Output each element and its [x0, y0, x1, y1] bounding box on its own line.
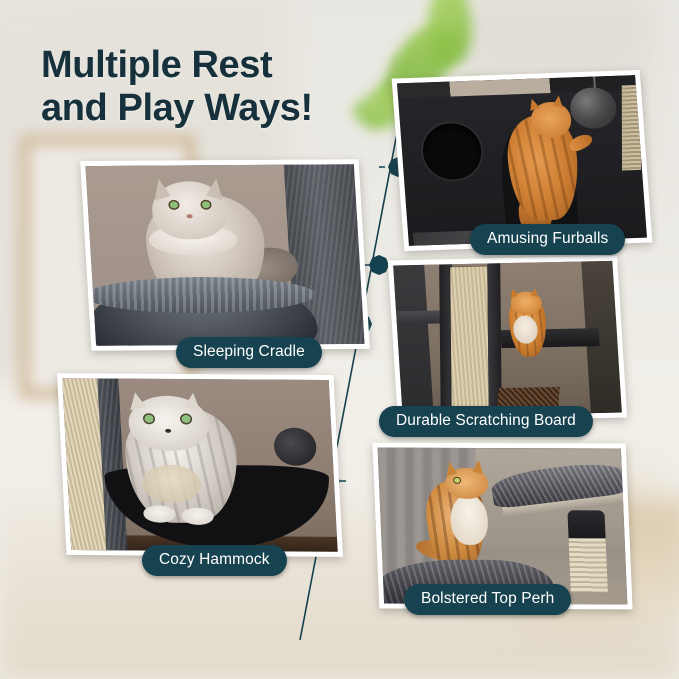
cat-eye: [454, 478, 460, 483]
hanging-furball-icon: [569, 87, 617, 129]
feature-photo-cozy-hammock: [62, 378, 337, 552]
cat-eye-right: [202, 201, 210, 208]
cat-ear-right: [472, 459, 485, 474]
hammock-scene: [62, 378, 337, 552]
feature-badge-bolstered-top-perh: Bolstered Top Perh: [404, 584, 571, 615]
top-perch-scene: [378, 448, 628, 605]
feature-photo-amusing-furballs: [397, 75, 647, 246]
feature-panel-cozy-hammock[interactable]: [57, 373, 343, 557]
poster-canvas: Multiple Rest and Play Ways! Amusing Fur: [0, 0, 679, 679]
feature-panel-sleeping-cradle[interactable]: [80, 159, 370, 351]
cat-ear-right: [530, 287, 540, 297]
page-title-line-1: Multiple Rest: [41, 44, 313, 87]
tree-shelf: [396, 310, 445, 325]
post-top-cap: [568, 511, 606, 542]
scratching-board-icon: [450, 267, 489, 414]
cat-nose: [165, 429, 171, 433]
cat-eye-left: [144, 415, 153, 423]
cat-ear-left: [526, 97, 539, 111]
sisal-pole: [412, 348, 435, 400]
sisal-post: [569, 539, 608, 592]
hammock-knot: [273, 428, 318, 466]
cat-ear-right: [553, 95, 565, 108]
cat-eye-left: [169, 201, 177, 208]
cat-ear-left: [125, 391, 145, 410]
condo-entry-hole: [422, 123, 483, 180]
feature-badge-sleeping-cradle: Sleeping Cradle: [176, 337, 322, 368]
feature-photo-sleeping-cradle: [85, 164, 364, 346]
cat-chest: [141, 465, 202, 503]
page-title-line-2: and Play Ways!: [41, 87, 313, 130]
feature-badge-amusing-furballs: Amusing Furballs: [470, 224, 625, 255]
scratching-board-scene: [393, 261, 622, 417]
condo-scene: [397, 75, 647, 246]
cat-ear-right: [185, 391, 204, 410]
cat-nose: [186, 214, 192, 218]
feature-badge-durable-scratching-board: Durable Scratching Board: [379, 406, 593, 437]
feature-panel-durable-scratching-board[interactable]: [388, 256, 627, 422]
feature-badge-cozy-hammock: Cozy Hammock: [142, 545, 287, 576]
cradle-scene: [85, 164, 364, 346]
page-title: Multiple Rest and Play Ways!: [41, 44, 313, 129]
feature-photo-bolstered-top-perh: [378, 448, 628, 605]
sisal-edge: [622, 85, 641, 170]
feature-photo-durable-scratching-board: [393, 261, 622, 417]
cat-eye-right: [181, 415, 190, 423]
